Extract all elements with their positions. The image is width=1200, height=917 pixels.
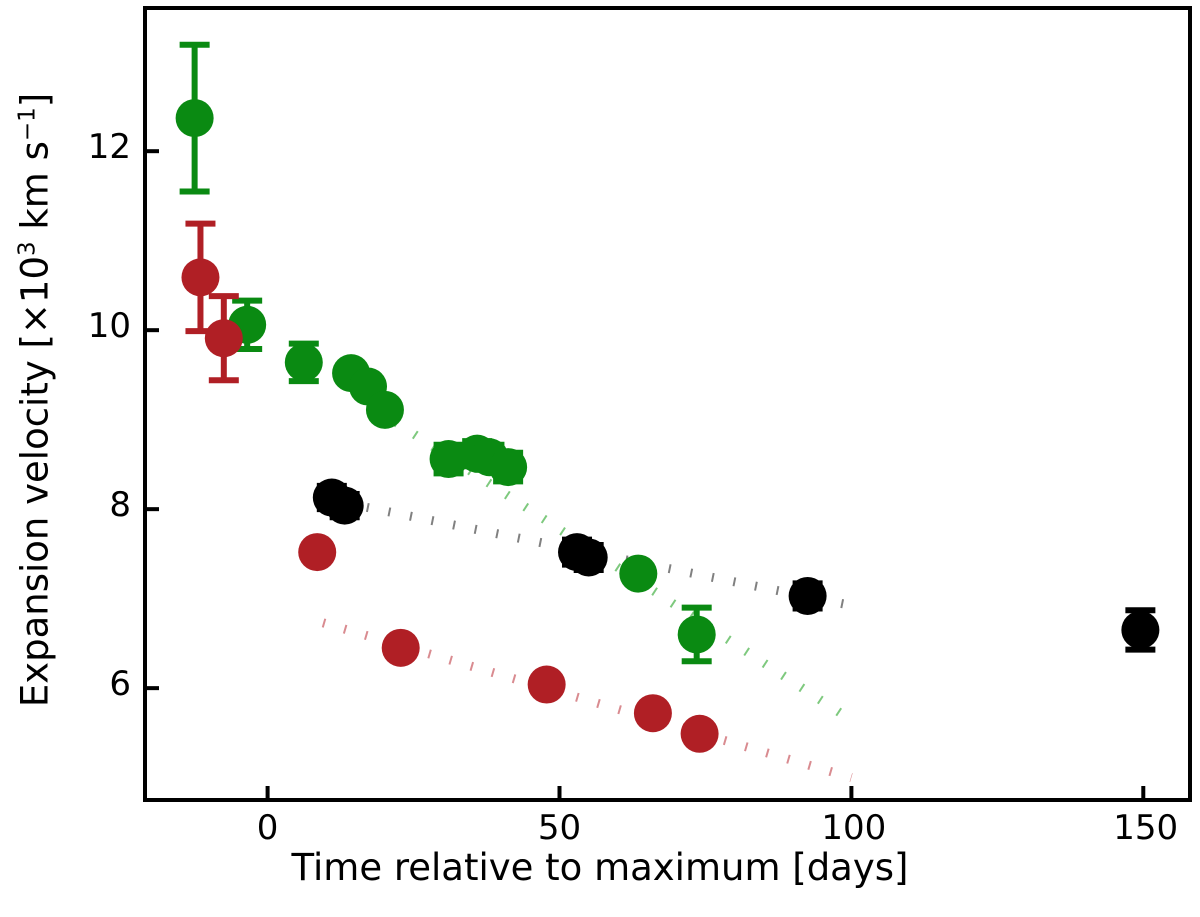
data-point <box>681 715 719 753</box>
y-axis-label-exponent-minus-1: −1 <box>14 107 40 141</box>
data-point <box>789 577 827 615</box>
y-axis-label-prefix: Expansion velocity [×10 <box>14 256 57 707</box>
y-tick-label: 10 <box>83 306 131 346</box>
x-tick-label: 0 <box>238 808 298 848</box>
y-axis-label-exponent-3: 3 <box>14 241 40 256</box>
y-axis-label-container: Expansion velocity [×103 km s−1] <box>0 0 70 800</box>
data-point <box>205 319 243 357</box>
data-point <box>1121 611 1159 649</box>
y-axis-label-suffix: ] <box>14 93 57 107</box>
y-axis-label: Expansion velocity [×103 km s−1] <box>16 93 53 707</box>
x-tick-label: 50 <box>529 808 589 848</box>
data-point <box>678 615 716 653</box>
y-tick-label: 12 <box>83 127 131 167</box>
data-point <box>285 343 323 381</box>
scatter-plot-canvas <box>0 0 1200 917</box>
data-point <box>298 533 336 571</box>
data-point <box>570 538 608 576</box>
data-point <box>181 258 219 296</box>
x-axis-label: Time relative to maximum [days] <box>0 846 1200 889</box>
x-tick-label: 100 <box>821 808 881 848</box>
x-tick-label: 150 <box>1113 808 1173 848</box>
black-fit <box>367 507 849 605</box>
axes-frame <box>145 8 1190 800</box>
data-point <box>176 99 214 137</box>
data-point <box>528 666 566 704</box>
data-point <box>619 555 657 593</box>
series-green <box>176 45 716 662</box>
data-point <box>326 487 364 525</box>
expansion-velocity-figure: Expansion velocity [×103 km s−1] Time re… <box>0 0 1200 917</box>
y-tick-label: 8 <box>83 485 131 525</box>
y-tick-label: 6 <box>83 664 131 704</box>
data-point <box>634 694 672 732</box>
data-point <box>382 629 420 667</box>
data-point <box>366 391 404 429</box>
series-black <box>313 479 1160 650</box>
data-point <box>489 448 527 486</box>
y-axis-label-mid: km s <box>14 141 57 241</box>
